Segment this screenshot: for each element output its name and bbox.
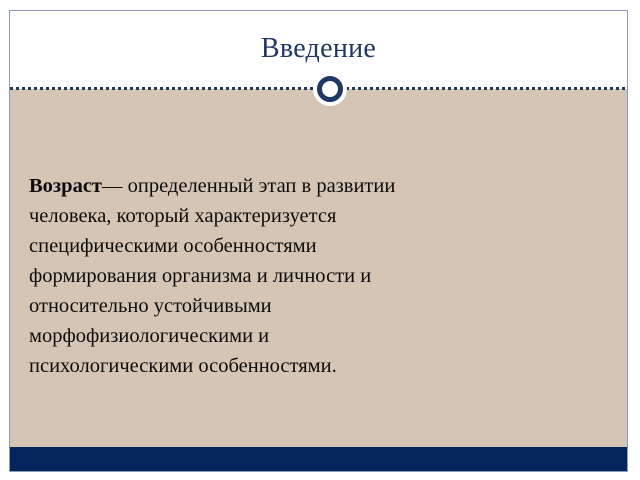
- slide-body: Возраст— определенный этап в развитии че…: [29, 171, 595, 381]
- body-line: Возраст— определенный этап в развитии: [29, 171, 595, 201]
- body-line: формирования организма и личности и: [29, 261, 595, 291]
- body-line: психологическими особенностями.: [29, 351, 595, 381]
- body-line-text: формирования организма и личности и: [29, 265, 371, 287]
- page-title: Введение: [10, 32, 627, 66]
- body-line-text: — определенный этап в развитии: [102, 175, 395, 197]
- body-line: относительно устойчивыми: [29, 291, 595, 321]
- body-line: человека, который характеризуется: [29, 201, 595, 231]
- body-line-text: специфическими особенностями: [29, 235, 317, 257]
- slide: Введение Возраст— определенный этап в ра…: [9, 10, 628, 472]
- body-line-text: относительно устойчивыми: [29, 295, 272, 317]
- body-line-text: морфофизиологическими и: [29, 325, 269, 347]
- slide-footer-bar: [10, 447, 627, 471]
- body-line-text: психологическими особенностями.: [29, 355, 337, 377]
- circle-ring-icon: [317, 76, 343, 102]
- body-lead-term: Возраст: [29, 175, 102, 197]
- body-line: морфофизиологическими и: [29, 321, 595, 351]
- body-line-text: человека, который характеризуется: [29, 205, 336, 227]
- body-line: специфическими особенностями: [29, 231, 595, 261]
